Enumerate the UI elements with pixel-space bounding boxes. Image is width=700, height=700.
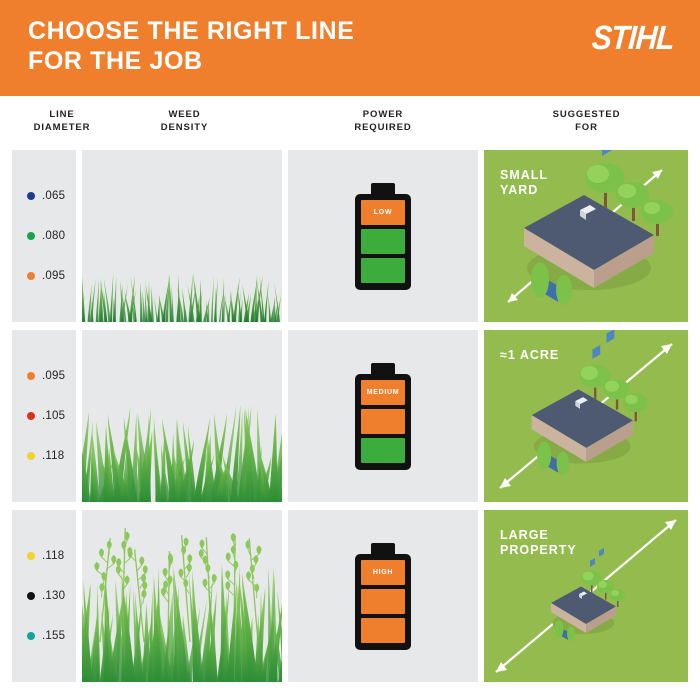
comparison-grid: .065 .080 .095 xyxy=(0,0,700,700)
diameter-list: .065 .080 .095 xyxy=(12,150,76,322)
battery-segment-middle xyxy=(361,229,405,254)
battery-cap xyxy=(371,183,395,194)
battery-icon: HIGH xyxy=(355,543,411,650)
battery-cap xyxy=(371,363,395,374)
grass-sparse-icon xyxy=(82,264,282,322)
battery-indicator-high: HIGH xyxy=(288,510,478,682)
diameter-value: .105 xyxy=(42,410,65,422)
color-dot-icon xyxy=(27,192,35,200)
battery-segment-bottom xyxy=(361,618,405,643)
list-item: .105 xyxy=(27,410,76,422)
cell-power-row-high: HIGH xyxy=(288,510,478,682)
battery-cap xyxy=(371,543,395,554)
cell-line-diameter-row-medium: .095 .105 .118 xyxy=(12,330,76,502)
diameter-value: .080 xyxy=(42,230,65,242)
cell-line-diameter-row-low: .065 .080 .095 xyxy=(12,150,76,322)
diameter-value: .095 xyxy=(42,270,65,282)
list-item: .155 xyxy=(27,630,76,642)
scene-label: LARGE PROPERTY xyxy=(500,528,577,558)
shrub xyxy=(537,442,551,470)
color-dot-icon xyxy=(27,272,35,280)
battery-segment-top: MEDIUM xyxy=(361,380,405,405)
diameter-value: .095 xyxy=(42,370,65,382)
battery-segment-middle xyxy=(361,589,405,614)
grass-thick-icon xyxy=(82,394,282,502)
shrub xyxy=(531,262,549,298)
scene-small-yard: SMALL YARD xyxy=(484,150,688,322)
shrub xyxy=(556,275,572,305)
color-dot-icon xyxy=(27,372,35,380)
scene-large-property: LARGE PROPERTY xyxy=(484,510,688,682)
shrub xyxy=(557,452,569,475)
battery-segment-top: LOW xyxy=(361,200,405,225)
battery-level-label: MEDIUM xyxy=(367,389,400,396)
scene-label-line2: PROPERTY xyxy=(500,543,577,558)
color-dot-icon xyxy=(27,232,35,240)
diameter-value: .118 xyxy=(42,550,64,562)
battery-body: MEDIUM xyxy=(355,374,411,470)
color-dot-icon xyxy=(27,592,35,600)
cell-weed-density-row-low xyxy=(82,150,282,322)
diameter-list: .118 .130 .155 xyxy=(12,510,76,682)
battery-indicator-medium: MEDIUM xyxy=(288,330,478,502)
color-dot-icon xyxy=(27,632,35,640)
scene-label: SMALL YARD xyxy=(500,168,548,198)
list-item: .095 xyxy=(27,270,76,282)
scene-label: ≈1 ACRE xyxy=(500,348,559,363)
list-item: .095 xyxy=(27,370,76,382)
battery-segment-top: HIGH xyxy=(361,560,405,585)
battery-icon: LOW xyxy=(355,183,411,290)
scene-one-acre: ≈1 ACRE xyxy=(484,330,688,502)
house-illustration xyxy=(551,548,626,642)
scene-label-line1: SMALL xyxy=(500,168,548,183)
battery-segment-bottom xyxy=(361,438,405,463)
cell-suggested-row-low: SMALL YARD xyxy=(484,150,688,322)
color-dot-icon xyxy=(27,452,35,460)
list-item: .130 xyxy=(27,590,76,602)
list-item: .080 xyxy=(27,230,76,242)
shrub xyxy=(555,620,564,638)
shrub xyxy=(567,627,575,642)
battery-segment-middle xyxy=(361,409,405,434)
color-dot-icon xyxy=(27,552,35,560)
cell-suggested-row-medium: ≈1 ACRE xyxy=(484,330,688,502)
battery-indicator-low: LOW xyxy=(288,150,478,322)
battery-body: HIGH xyxy=(355,554,411,650)
color-dot-icon xyxy=(27,412,35,420)
list-item: .118 xyxy=(27,550,76,562)
cell-line-diameter-row-high: .118 .130 .155 xyxy=(12,510,76,682)
list-item: .065 xyxy=(27,190,76,202)
scene-label-line1: ≈1 ACRE xyxy=(500,348,559,363)
scene-label-line1: LARGE xyxy=(500,528,577,543)
battery-segment-bottom xyxy=(361,258,405,283)
diameter-value: .065 xyxy=(42,190,65,202)
diameter-value: .155 xyxy=(42,630,65,642)
cell-weed-density-row-medium xyxy=(82,330,282,502)
cell-suggested-row-high: LARGE PROPERTY xyxy=(484,510,688,682)
cell-weed-density-row-high xyxy=(82,510,282,682)
battery-level-label: LOW xyxy=(374,209,392,216)
list-item: .118 xyxy=(27,450,76,462)
battery-level-label: HIGH xyxy=(373,569,393,576)
diameter-value: .130 xyxy=(42,590,65,602)
cell-power-row-medium: MEDIUM xyxy=(288,330,478,502)
battery-icon: MEDIUM xyxy=(355,363,411,470)
grass-dense-weeds-icon xyxy=(82,517,282,682)
diameter-value: .118 xyxy=(42,450,64,462)
battery-body: LOW xyxy=(355,194,411,290)
scene-label-line2: YARD xyxy=(500,183,548,198)
cell-power-row-low: LOW xyxy=(288,150,478,322)
diameter-list: .095 .105 .118 xyxy=(12,330,76,502)
